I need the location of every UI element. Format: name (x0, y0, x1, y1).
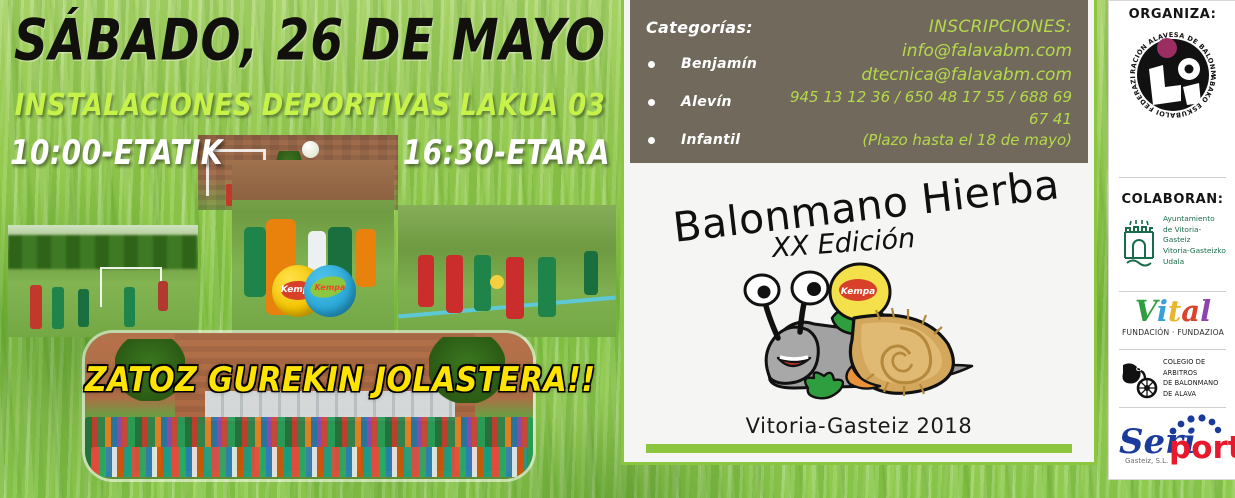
photo-player-orange (356, 229, 376, 287)
event-title-block: Balonmano Hierba XX Edición (624, 176, 1094, 272)
left-panel: SÁBADO, 26 DE MAYO INSTALACIONES DEPORTI… (0, 0, 620, 498)
photo-match-right (398, 205, 616, 337)
tagline-text: ZATOZ GUREKIN JOLASTERA!! (85, 360, 533, 400)
photo-player-red (446, 255, 463, 313)
center-panel: Categorías: Benjamín Alevín Infantil INS… (621, 0, 1097, 465)
federation-logo: FEDERACIÓN ALAVESA DE BALONMANO ARABAKO … (1123, 25, 1223, 125)
photo-player-red (418, 255, 434, 307)
ayuntamiento-logo: Ayuntamiento de Vitoria-Gasteiz Vitoria-… (1118, 214, 1228, 276)
photo-player-green (538, 257, 556, 317)
photo-player-red (506, 257, 524, 319)
vital-wordmark: Vital (1121, 297, 1225, 326)
handball-pair (272, 265, 356, 317)
category-label: Benjamín (681, 56, 757, 72)
organiza-heading: ORGANIZA: (1109, 7, 1235, 22)
inscriptions-title: INSCRIPCIONES: (772, 15, 1072, 39)
federation-logo-svg: FEDERACIÓN ALAVESA DE BALONMANO ARABAKO … (1123, 25, 1223, 125)
photo-background-wall (232, 160, 394, 200)
photo-treeline (8, 235, 198, 269)
serisport-sub: Gasteiz, S.L. (1125, 457, 1168, 465)
ayto-line-3: Vitoria-Gasteizko (1163, 246, 1228, 257)
photo-player (78, 289, 89, 327)
svg-text:Kempa: Kempa (841, 287, 875, 297)
bullet-icon (648, 137, 655, 144)
photo-player-green (474, 255, 491, 311)
phone-numbers: 945 13 12 36 / 650 48 17 55 / 688 69 67 … (772, 87, 1072, 130)
snail-mascot: Kempa (734, 262, 984, 412)
photo-player-green (244, 227, 266, 297)
deadline-note: (Plazo hasta el 18 de mayo) (772, 130, 1072, 151)
time-end: 16:30-ETARA (403, 133, 610, 173)
arb-line-2: DE BALONMANO (1163, 378, 1229, 389)
category-item: Alevín (648, 94, 732, 110)
photo-match-left (8, 225, 198, 337)
divider (1119, 177, 1226, 178)
kempa-ball-blue (304, 265, 356, 317)
snail-mascot-svg: Kempa (734, 262, 984, 412)
bullet-icon (648, 99, 655, 106)
event-title: Balonmano Hierba (671, 160, 1062, 252)
divider (1119, 291, 1226, 292)
ayuntamiento-text: Ayuntamiento de Vitoria-Gasteiz Vitoria-… (1163, 214, 1228, 268)
photo-ball (302, 141, 319, 158)
email-tecnica: dtecnica@falavabm.com (772, 63, 1072, 87)
divider (1119, 349, 1226, 350)
arb-line-1: COLEGIO DE ARBITROS (1163, 357, 1229, 378)
divider (1119, 407, 1226, 408)
ayto-line-4: Udala (1163, 257, 1228, 268)
info-box: Categorías: Benjamín Alevín Infantil INS… (630, 0, 1088, 163)
city-year: Vitoria-Gasteiz 2018 (624, 414, 1094, 438)
inscriptions-block: INSCRIPCIONES: info@falavabm.com dtecnic… (772, 15, 1072, 151)
vital-logo: Vital FUNDACIÓN · FUNDAZIOA (1121, 297, 1225, 349)
category-label: Alevín (681, 94, 732, 110)
photo-group-participants (85, 333, 533, 479)
category-label: Infantil (681, 132, 740, 148)
ayuntamiento-emblem-icon (1118, 216, 1160, 272)
colaboran-heading: COLABORAN: (1109, 192, 1235, 207)
photo-player (124, 287, 135, 327)
arb-line-3: DE ALAVA (1163, 389, 1229, 400)
bullet-icon (648, 61, 655, 68)
photo-player (30, 285, 42, 329)
poster-root: SÁBADO, 26 DE MAYO INSTALACIONES DEPORTI… (0, 0, 1235, 498)
sponsor-sidebar: ORGANIZA: FEDERACIÓN ALAVESA DE BALONMAN… (1108, 0, 1235, 480)
photo-player-green (584, 251, 598, 295)
page-title: SÁBADO, 26 DE MAYO (0, 12, 620, 69)
event-edition: XX Edición (771, 223, 916, 264)
photo-crowd-front-row (91, 447, 527, 477)
arbitros-logo: CABA COLEGIO DE ARBITROS DE BALONMANO DE… (1117, 355, 1229, 403)
categories-title: Categorías: (646, 18, 753, 37)
category-item: Infantil (648, 132, 740, 148)
serisport-port: port (1169, 433, 1235, 464)
serisport-logo: Seri port Gasteiz, S.L. (1117, 413, 1229, 471)
category-item: Benjamín (648, 56, 757, 72)
svg-text:CABA: CABA (1136, 367, 1151, 373)
vital-caption: FUNDACIÓN · FUNDAZIOA (1121, 328, 1225, 337)
venue-subtitle: INSTALACIONES DEPORTIVAS LAKUA 03 (0, 88, 620, 123)
ayto-line-1: Ayuntamiento (1163, 214, 1228, 225)
email-info: info@falavabm.com (772, 39, 1072, 63)
photo-player (158, 281, 168, 311)
arbitros-text: COLEGIO DE ARBITROS DE BALONMANO DE ALAV… (1163, 357, 1229, 399)
photo-player (52, 287, 64, 329)
accent-bar (646, 444, 1072, 453)
time-start: 10:00-ETATIK (10, 133, 223, 173)
photo-ball (490, 275, 504, 289)
arbitros-emblem-icon: CABA (1117, 357, 1161, 401)
ayto-line-2: de Vitoria-Gasteiz (1163, 225, 1228, 246)
